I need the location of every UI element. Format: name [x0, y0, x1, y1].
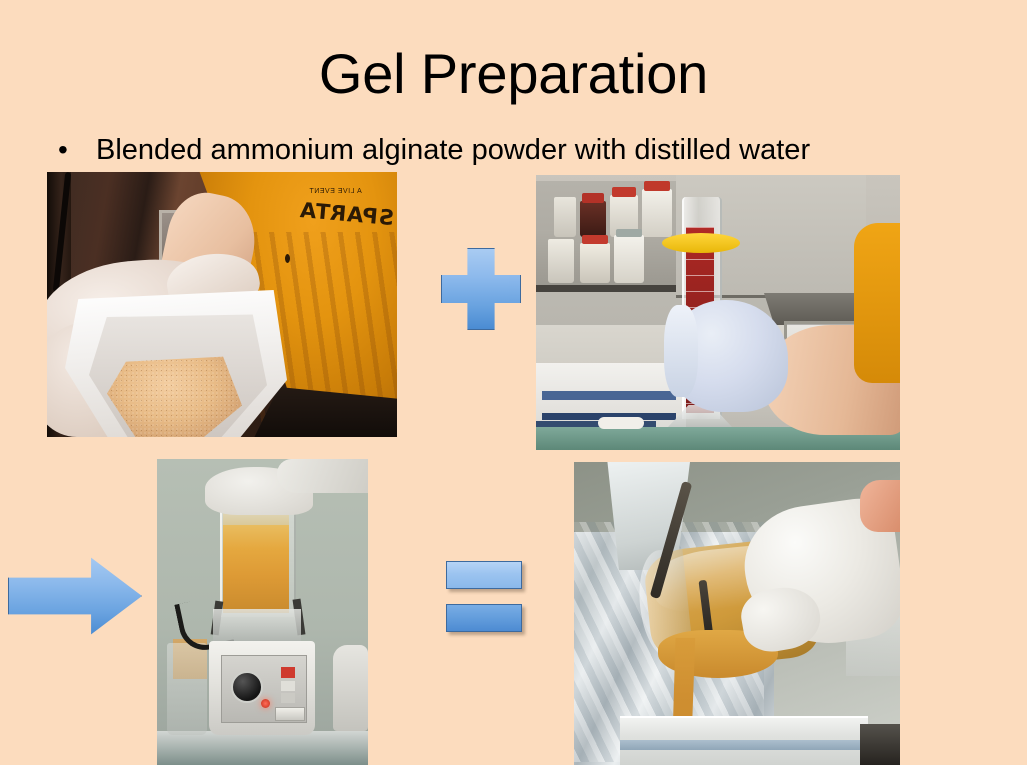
bullet-list: • Blended ammonium alginate powder with …	[58, 130, 998, 170]
white-lid	[598, 417, 644, 429]
cylinder-photo	[536, 175, 900, 450]
reagent-bottle	[548, 239, 574, 283]
orange-shirt-sleeve	[854, 223, 900, 383]
forearm	[860, 480, 900, 532]
equals-icon	[446, 561, 522, 632]
reagent-bottle	[580, 201, 606, 237]
reagent-bottle	[580, 243, 610, 283]
bottle-cap	[644, 181, 670, 191]
indicator-led	[261, 699, 270, 708]
background-equipment	[333, 645, 368, 731]
beaker	[167, 643, 207, 735]
glove-fingers	[664, 305, 698, 397]
reagent-bottle	[642, 189, 672, 237]
blender-photo	[157, 459, 368, 765]
right-arrow-icon	[8, 556, 142, 636]
bullet-marker: •	[58, 130, 96, 170]
plus-icon	[441, 248, 521, 330]
box-label-stripe	[542, 391, 676, 400]
page-title: Gel Preparation	[0, 42, 1027, 106]
control-button[interactable]	[281, 693, 295, 703]
powder-photo: A LIVE EVENT SPARTA	[47, 172, 397, 437]
control-button[interactable]	[281, 681, 295, 691]
reagent-bottle	[614, 235, 644, 283]
gloved-forearm	[277, 459, 368, 493]
blender-collar	[213, 609, 301, 641]
reagent-bottle	[554, 197, 576, 237]
background-shadow	[860, 724, 900, 765]
equals-bar-top	[446, 561, 522, 589]
bottle-cap	[582, 235, 608, 244]
bullet-text: Blended ammonium alginate powder with di…	[96, 130, 810, 170]
equals-bar-bottom	[446, 604, 522, 632]
container-band	[620, 740, 868, 750]
bottle-cap	[582, 193, 604, 203]
display-slot	[275, 707, 305, 721]
speed-knob[interactable]	[231, 671, 263, 703]
shirt-detail	[285, 254, 290, 263]
pour-photo	[574, 462, 900, 765]
bench-surface	[157, 731, 368, 765]
shirt-subtext: A LIVE EVENT	[309, 188, 362, 195]
bottle-cap	[612, 187, 636, 197]
power-button[interactable]	[281, 667, 295, 678]
yellow-safety-bumper	[662, 233, 740, 253]
slide-canvas: Gel Preparation • Blended ammonium algin…	[0, 0, 1027, 765]
gel-mixture	[223, 521, 289, 613]
bottle-cap	[616, 229, 642, 237]
